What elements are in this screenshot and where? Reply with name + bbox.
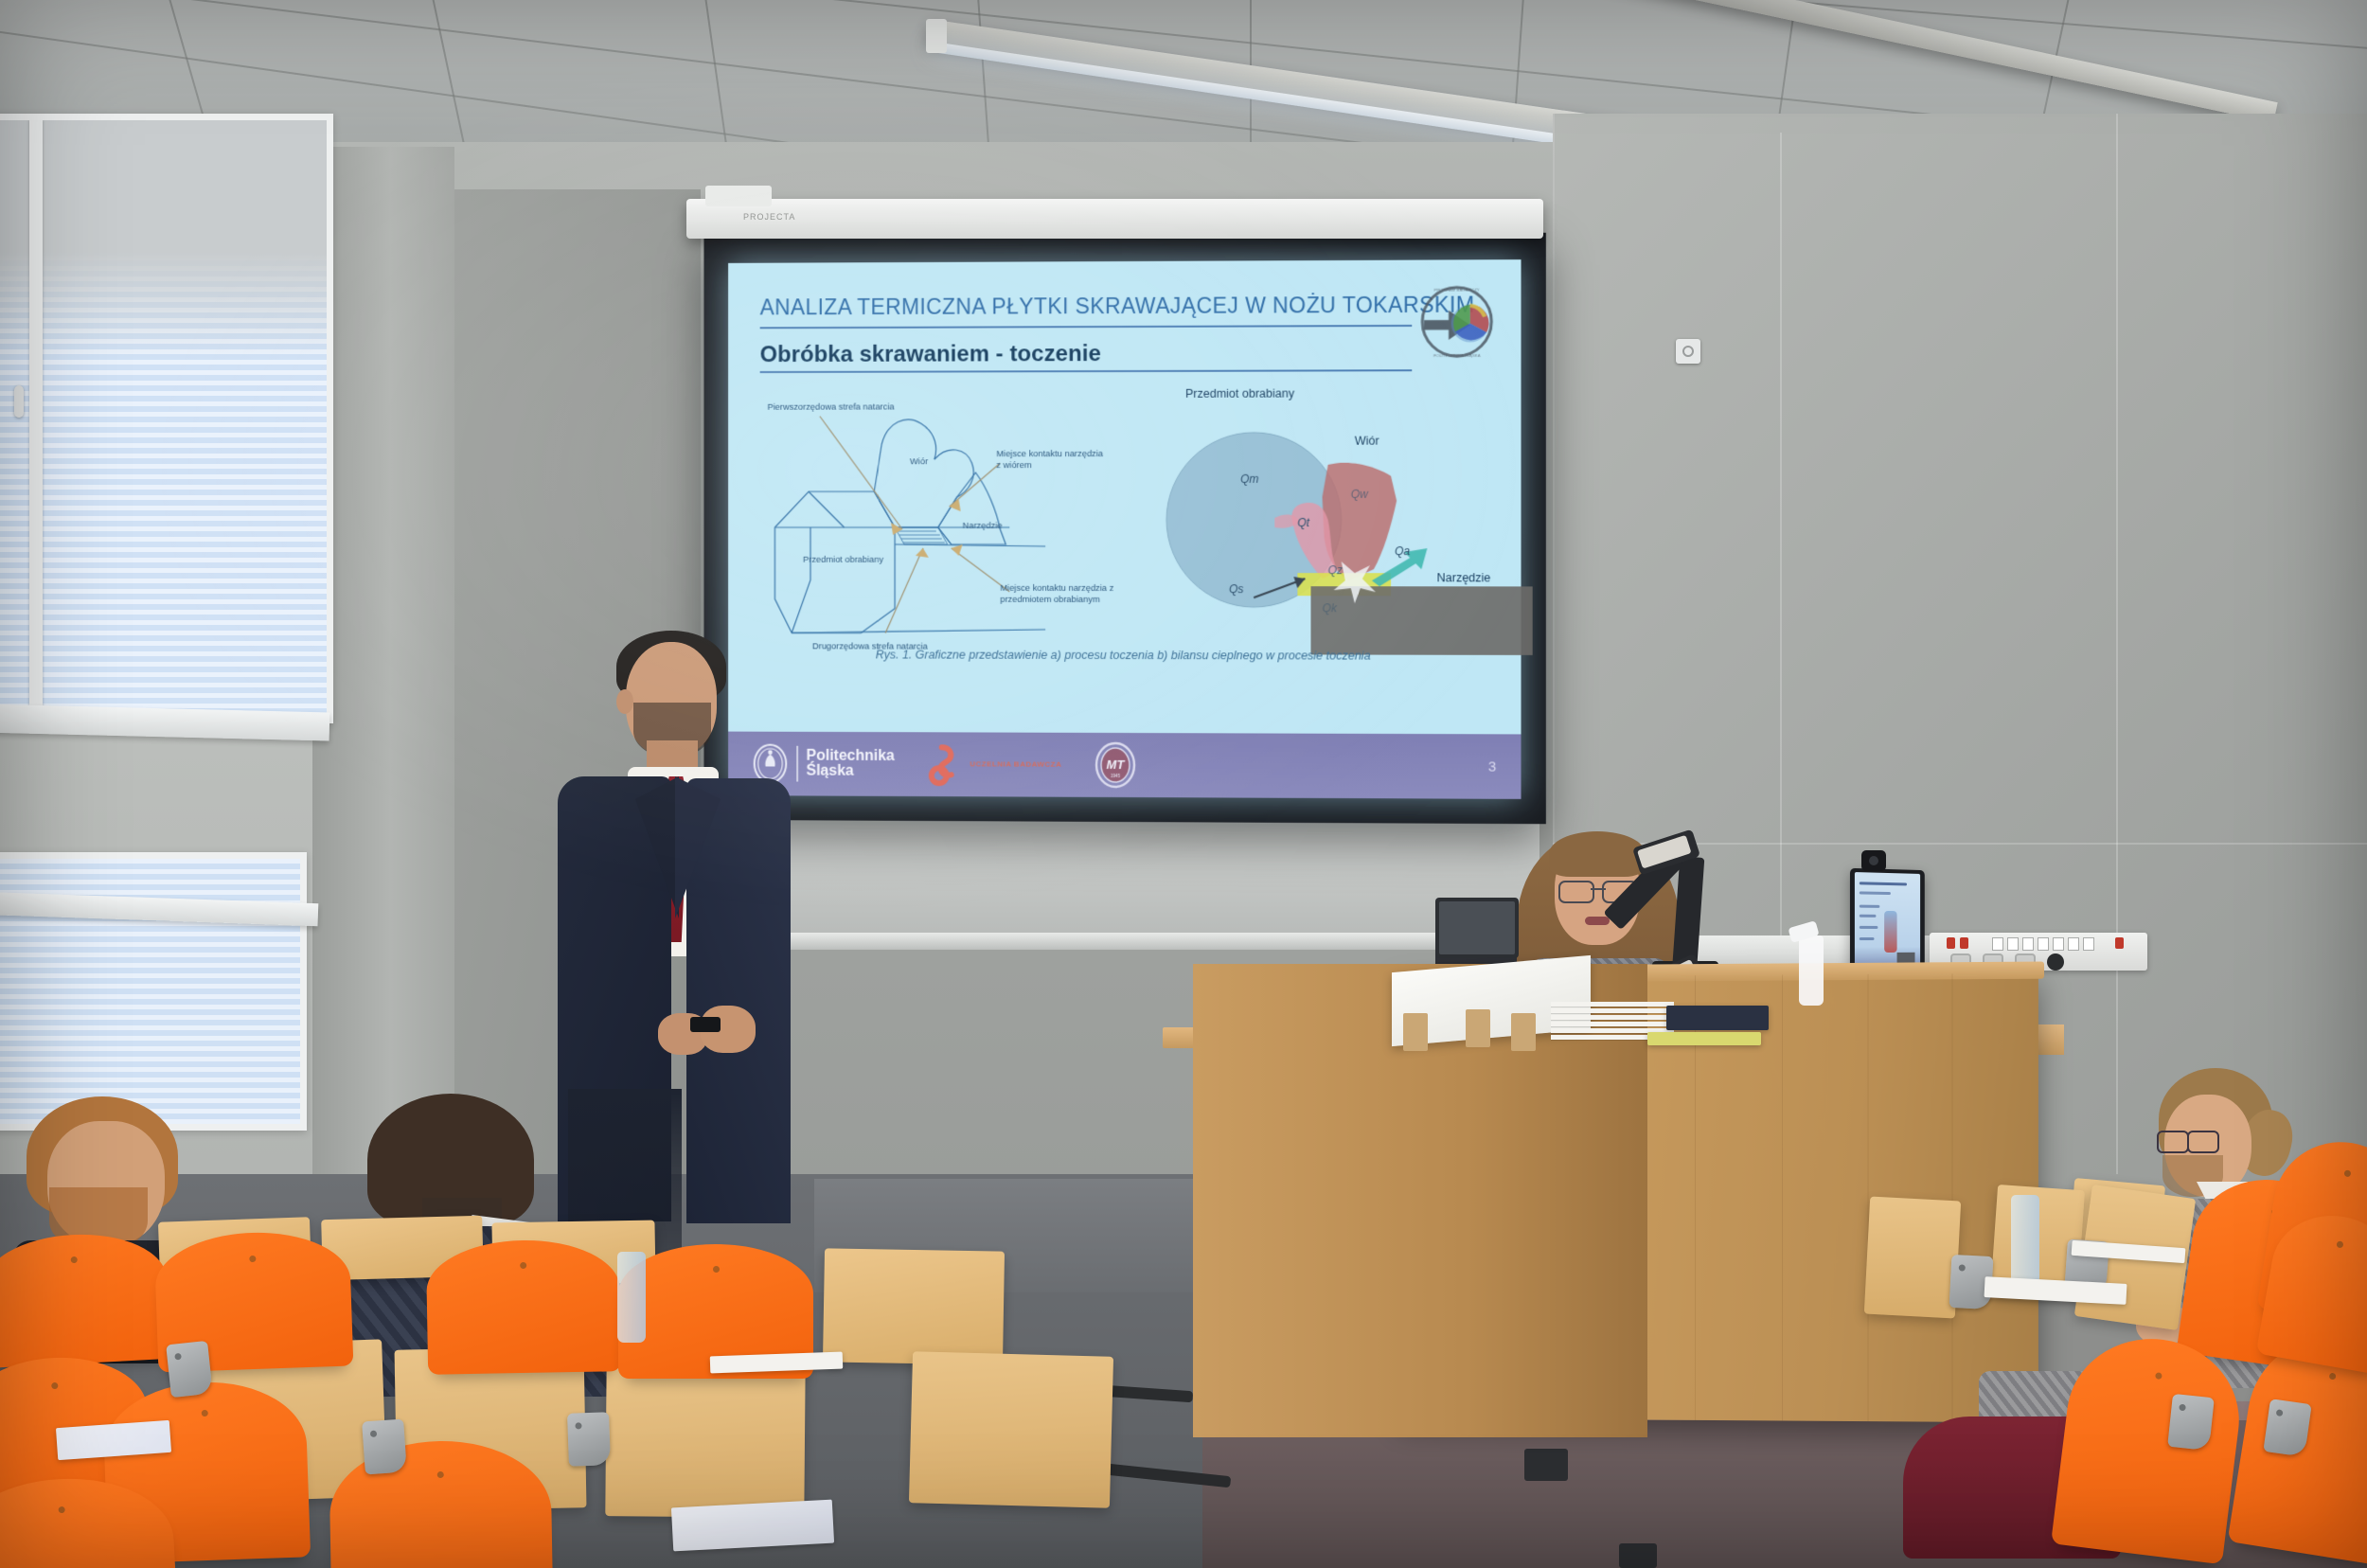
- seat-hinge-a: [362, 1419, 407, 1475]
- heat-symbol-qa: Qa: [1395, 544, 1410, 558]
- projector-screen: ANALIZA TERMICZNA PŁYTKI SKRAWAJĄCEJ W N…: [703, 233, 1545, 824]
- title-divider: [760, 325, 1413, 329]
- mt-emblem-text: MT: [1107, 757, 1126, 772]
- heat-symbol-qm: Qm: [1240, 472, 1258, 486]
- folding-desk-row3-d[interactable]: [909, 1351, 1113, 1507]
- figure-b-drawing: [1155, 384, 1537, 670]
- seat-hinge-b: [567, 1412, 611, 1467]
- bangs: [1549, 831, 1646, 877]
- uczelnia-badawcza-icon: [927, 741, 965, 787]
- fig-a-label-4: Przedmiot obrabiany: [803, 554, 883, 565]
- paper-tab: [1403, 1013, 1428, 1051]
- mt-faculty-emblem: MT 1945: [1094, 741, 1137, 789]
- spray-bottle[interactable]: [1799, 935, 1824, 1006]
- seat-right-c[interactable]: [2057, 1336, 2241, 1562]
- booklet-left[interactable]: [671, 1500, 834, 1552]
- fig-a-label-3: Narzędzie: [963, 520, 1003, 531]
- seat-row2-a[interactable]: [0, 1236, 164, 1365]
- folding-desk-row3-c[interactable]: [605, 1359, 805, 1518]
- heat-symbol-qw: Qw: [1351, 488, 1368, 501]
- water-bottle-left[interactable]: [617, 1252, 646, 1343]
- heat-symbol-qs: Qs: [1229, 582, 1243, 596]
- fig-a-label-0: Pierwszorzędowa strefa natarcia: [768, 401, 895, 413]
- figure-a-turning-process: Pierwszorzędowa strefa natarcia Wiór Mie…: [764, 385, 1159, 669]
- slide-subtitle: Obróbka skrawaniem - toczenie: [760, 340, 1488, 368]
- figure-caption: Rys. 1. Graficzne przedstawienie a) proc…: [760, 648, 1488, 663]
- svg-text:PROGRAM BADAWCZY: PROGRAM BADAWCZY: [1434, 288, 1480, 293]
- presentation-slide: ANALIZA TERMICZNA PŁYTKI SKRAWAJĄCEJ W N…: [728, 259, 1521, 799]
- fig-a-label-1: Wiór: [910, 455, 928, 467]
- svg-text:1945: 1945: [1111, 774, 1121, 778]
- subtitle-divider: [760, 369, 1413, 373]
- heat-symbol-qz: Qz: [1328, 563, 1343, 577]
- figures-row: Pierwszorzędowa strefa natarcia Wiór Mie…: [760, 384, 1488, 670]
- screen-brand-label: PROJECTA: [743, 212, 795, 222]
- fig-a-label-2: Miejsce kontaktu narzędzia z wiórem: [996, 448, 1110, 471]
- fig-b-label-workpiece: Przedmiot obrabiany: [1185, 387, 1294, 402]
- uczelnia-badawcza-logo: UCZELNIA BADAWCZA: [927, 741, 1062, 787]
- svg-text:POLITECHNIKA ŚLĄSKA: POLITECHNIKA ŚLĄSKA: [1433, 353, 1481, 358]
- wall-outlet[interactable]: [1676, 339, 1700, 364]
- desk-note[interactable]: [1647, 1032, 1761, 1045]
- mouth: [1585, 917, 1610, 925]
- screen-bottom-bar: [704, 933, 1541, 950]
- fig-a-label-5: Miejsce kontaktu narzędzia z przedmiotem…: [1000, 582, 1134, 605]
- slide-page-number: 3: [1488, 758, 1496, 775]
- desk-folder[interactable]: [1666, 1006, 1769, 1030]
- slide-title: ANALIZA TERMICZNA PŁYTKI SKRAWAJĄCEJ W N…: [760, 292, 1488, 320]
- university-name: Politechnika Śląska: [807, 748, 895, 779]
- floor-box-2: [1619, 1543, 1657, 1568]
- presentation-clicker[interactable]: [690, 1017, 721, 1032]
- screen-mount-bracket: [705, 186, 772, 206]
- laptop[interactable]: [1435, 898, 1519, 958]
- webcam: [1861, 850, 1886, 871]
- research-sphere-arrow-icon: PROGRAM BADAWCZY POLITECHNIKA ŚLĄSKA: [1415, 280, 1498, 363]
- projector-screen-housing: PROJECTA: [686, 199, 1543, 239]
- heat-symbol-qk: Qk: [1323, 601, 1337, 615]
- heat-symbol-qt: Qt: [1297, 516, 1309, 529]
- seat-row2-c[interactable]: [433, 1244, 614, 1372]
- slide-content: ANALIZA TERMICZNA PŁYTKI SKRAWAJĄCEJ W N…: [728, 259, 1521, 734]
- screen-lower-apron: [706, 814, 1539, 947]
- fig-b-label-tool: Narzędzie: [1437, 571, 1491, 586]
- paper-tab-3: [1511, 1013, 1536, 1051]
- floor-box: [1524, 1449, 1568, 1481]
- window-blind[interactable]: [0, 120, 327, 717]
- light-mount: [926, 19, 947, 53]
- ear: [616, 689, 633, 714]
- window-upper-left: [0, 114, 333, 723]
- fig-b-label-chip: Wiór: [1355, 435, 1379, 450]
- seat-desk-row2[interactable]: [823, 1248, 1005, 1364]
- wall-column: [312, 147, 454, 1226]
- eyeglasses-icon: [2157, 1131, 2219, 1149]
- uczelnia-badawcza-text: UCZELNIA BADAWCZA: [970, 760, 1061, 770]
- folding-desk-right-c[interactable]: [1864, 1197, 1961, 1319]
- figure-b-heat-balance: Przedmiot obrabiany Wiór Narzędzie Qm Qw…: [1155, 384, 1537, 670]
- figure-a-drawing: [764, 385, 1159, 669]
- paper-tab-2: [1466, 1009, 1490, 1047]
- lecture-hall-scene: PROJECTA ANALIZA TERMICZNA PŁYTKI SKRAWA…: [0, 0, 2367, 1568]
- slide-footer: Politechnika Śląska UCZELNIA BADAWCZA: [728, 732, 1521, 799]
- seat-hinge-c: [166, 1341, 213, 1398]
- seat-hinge-right-a: [2167, 1394, 2215, 1451]
- water-bottle-right[interactable]: [2011, 1195, 2039, 1286]
